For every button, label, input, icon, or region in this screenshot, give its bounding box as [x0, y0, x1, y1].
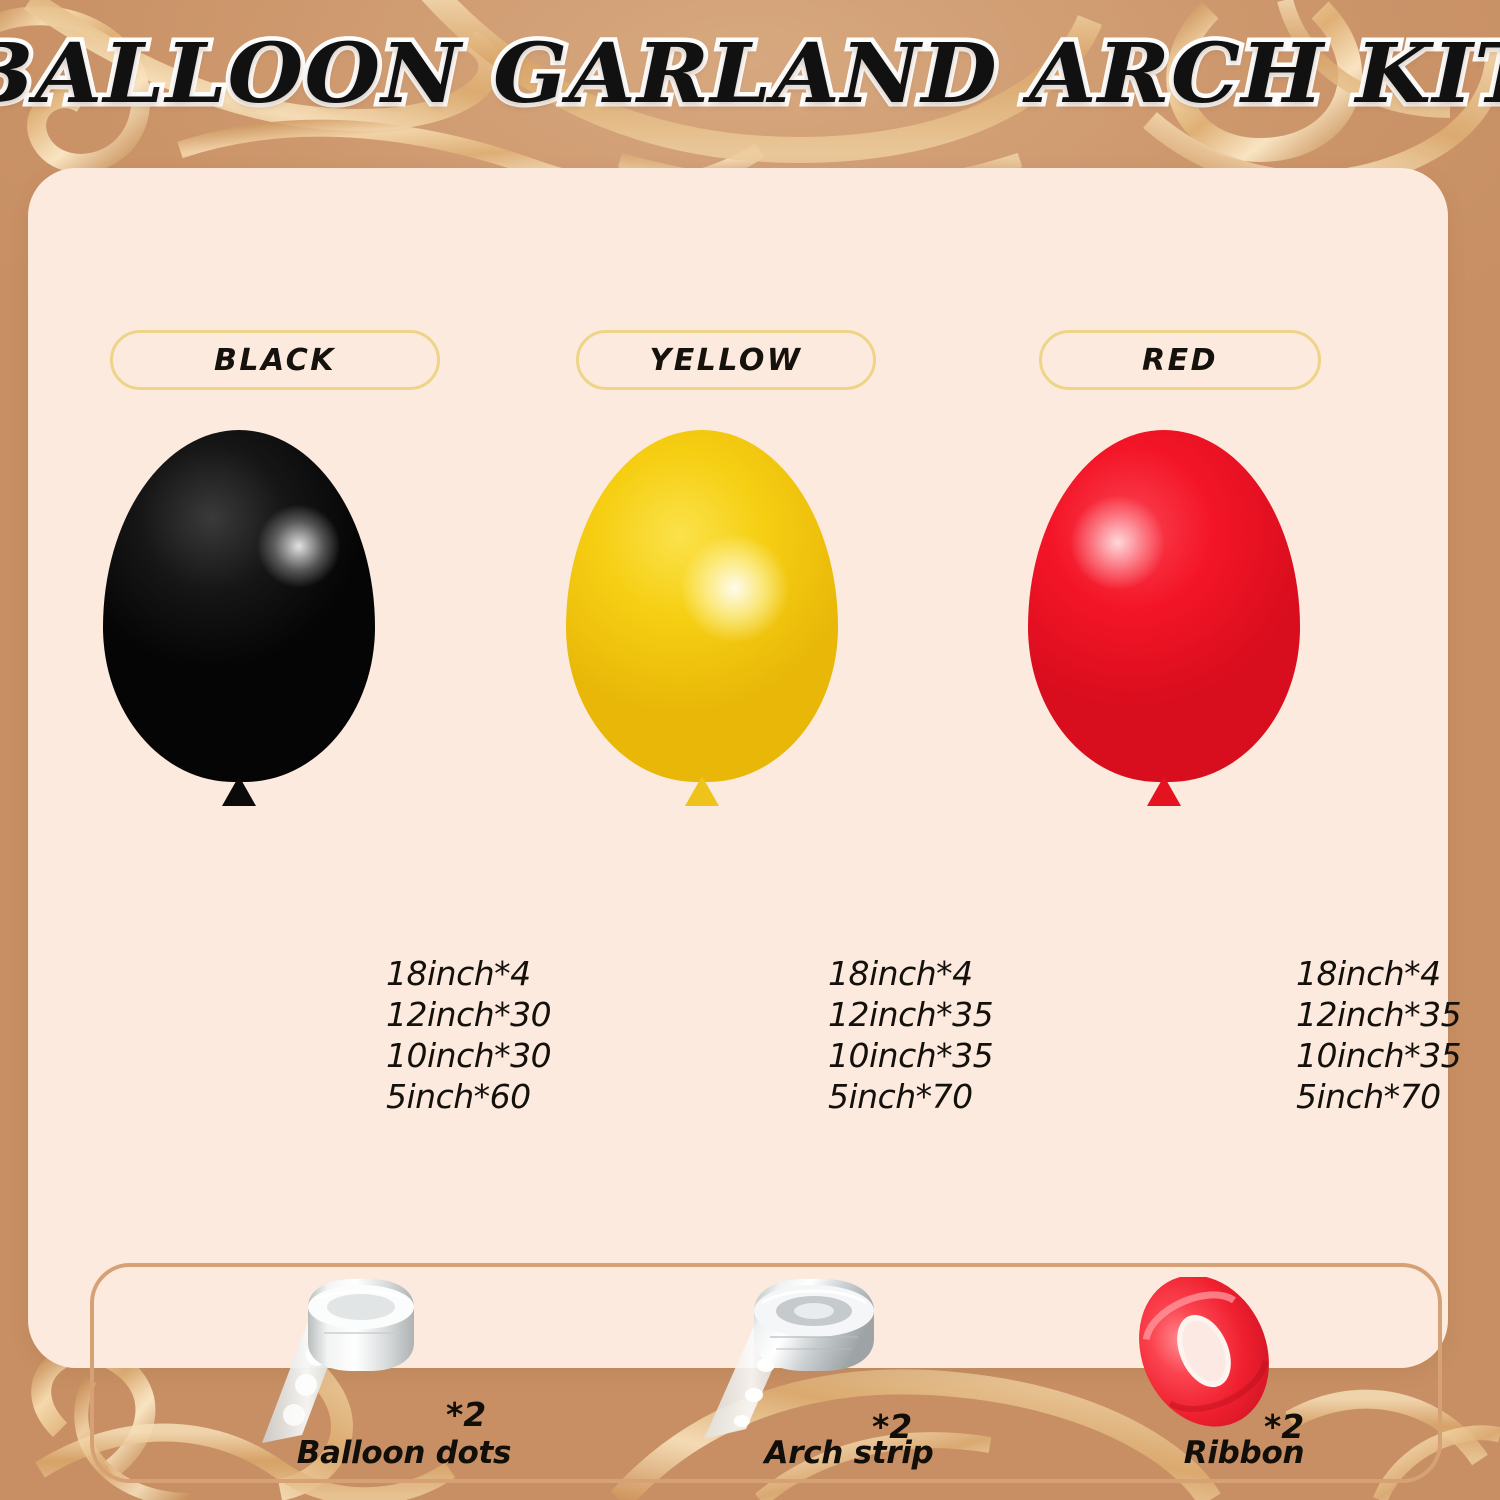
balloon-image-black [103, 430, 375, 782]
balloon-red-icon [1028, 430, 1300, 782]
color-label-pill-red: RED [1039, 330, 1321, 390]
color-label-pill-black: BLACK [110, 330, 440, 390]
accessory-label-arch-strip: Arch strip [684, 1435, 1014, 1471]
spec-line: 18inch*4 [828, 953, 993, 994]
page-title: BALLOON GARLAND ARCH KIT [0, 26, 1500, 122]
color-label-black: BLACK [214, 343, 336, 378]
color-label-yellow: YELLOW [650, 343, 803, 378]
accessory-item-balloon-dots: *2 Balloon dots [224, 1267, 584, 1487]
spec-line: 5inch*70 [828, 1076, 993, 1117]
spec-list-red: 18inch*4 12inch*35 10inch*35 5inch*70 [1296, 953, 1461, 1117]
spec-list-black: 18inch*4 12inch*30 10inch*30 5inch*60 [386, 953, 551, 1117]
color-label-pill-yellow: YELLOW [576, 330, 876, 390]
balloon-image-yellow [566, 430, 838, 782]
arch-strip-roll-icon [684, 1277, 1014, 1447]
color-column-black: BLACK [88, 168, 518, 390]
color-column-yellow: YELLOW [548, 168, 978, 390]
accessory-item-arch-strip: *2 Arch strip [684, 1267, 1014, 1487]
color-label-red: RED [1142, 343, 1218, 378]
balloon-yellow-icon [566, 430, 838, 782]
spec-line: 12inch*35 [1296, 994, 1461, 1035]
color-column-red: RED [1003, 168, 1433, 390]
ribbon-roll-icon [1094, 1277, 1394, 1447]
main-content-panel: BLACK 18inch*4 12inch*30 10inch*30 5inch… [28, 168, 1448, 1368]
glue-dot-roll-icon [224, 1277, 584, 1447]
spec-line: 18inch*4 [1296, 953, 1461, 994]
balloon-black-icon [103, 430, 375, 782]
accessories-panel: *2 Balloon dots [90, 1263, 1442, 1483]
spec-list-yellow: 18inch*4 12inch*35 10inch*35 5inch*70 [828, 953, 993, 1117]
accessory-qty-balloon-dots: *2 [446, 1395, 486, 1434]
spec-line: 10inch*35 [828, 1035, 993, 1076]
spec-line: 12inch*30 [386, 994, 551, 1035]
accessory-item-ribbon: *2 Ribbon [1094, 1267, 1394, 1487]
spec-line: 12inch*35 [828, 994, 993, 1035]
spec-line: 18inch*4 [386, 953, 551, 994]
spec-line: 5inch*60 [386, 1076, 551, 1117]
balloon-image-red [1028, 430, 1300, 782]
spec-line: 10inch*35 [1296, 1035, 1461, 1076]
spec-line: 5inch*70 [1296, 1076, 1461, 1117]
spec-line: 10inch*30 [386, 1035, 551, 1076]
accessory-label-ribbon: Ribbon [1094, 1435, 1394, 1471]
accessory-label-balloon-dots: Balloon dots [224, 1435, 584, 1471]
